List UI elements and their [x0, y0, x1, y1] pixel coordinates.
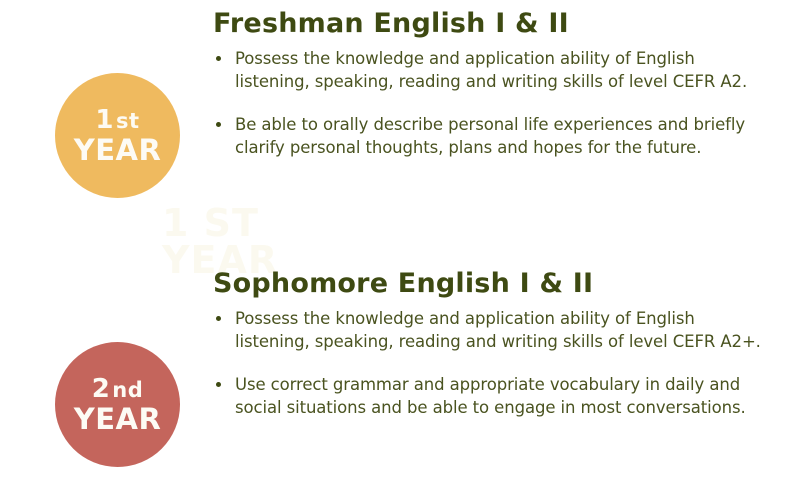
- list-item: Use correct grammar and appropriate voca…: [213, 373, 773, 420]
- year-badge-first-number: 1: [95, 105, 114, 135]
- section-freshman: Freshman English I & II Possess the know…: [213, 8, 773, 160]
- section-freshman-title: Freshman English I & II: [213, 8, 773, 39]
- section-freshman-bullets: Possess the knowledge and application ab…: [213, 47, 773, 160]
- section-sophomore: Sophomore English I & II Possess the kno…: [213, 268, 773, 420]
- list-item: Possess the knowledge and application ab…: [213, 47, 773, 94]
- list-item: Possess the knowledge and application ab…: [213, 307, 773, 354]
- year-badge-first-suffix: st: [116, 109, 140, 133]
- section-sophomore-bullets: Possess the knowledge and application ab…: [213, 307, 773, 420]
- year-badge-second-ordinal: 2nd: [92, 376, 144, 402]
- section-sophomore-title: Sophomore English I & II: [213, 268, 773, 299]
- watermark-line-1: 1 ST: [162, 201, 259, 245]
- year-badge-second-label: YEAR: [74, 405, 162, 434]
- year-badge-first-label: YEAR: [74, 136, 162, 165]
- year-badge-second-number: 2: [92, 374, 111, 404]
- list-item: Be able to orally describe personal life…: [213, 113, 773, 160]
- year-badge-first-ordinal: 1st: [95, 107, 139, 133]
- year-badge-first: 1st YEAR: [55, 73, 180, 198]
- year-badge-second-suffix: nd: [112, 378, 143, 402]
- year-badge-second: 2nd YEAR: [55, 342, 180, 467]
- curriculum-year-outcomes-page: 1 ST YEAR 1st YEAR Freshman English I & …: [0, 0, 805, 502]
